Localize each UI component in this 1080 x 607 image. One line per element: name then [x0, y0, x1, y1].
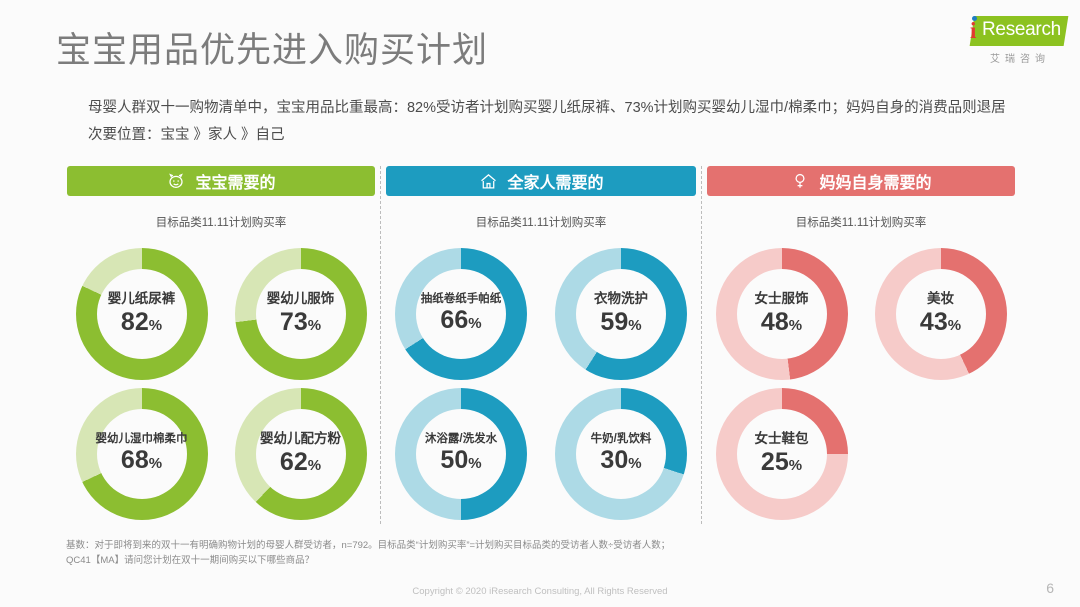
- donut-cell: 牛奶/乳饮料 30%: [541, 384, 701, 524]
- panel-baby: 宝宝需要的 目标品类11.11计划购买率 婴儿纸尿裤 82%: [62, 166, 380, 524]
- donut-hole: 女士鞋包 25%: [737, 409, 827, 499]
- donut-cell: 婴幼儿湿巾棉柔巾 68%: [62, 384, 221, 524]
- donut-hole: 牛奶/乳饮料 30%: [576, 409, 666, 499]
- donut-hole: 婴幼儿配方粉 62%: [256, 409, 346, 499]
- donut-value-unit: %: [149, 455, 162, 472]
- donut-value-unit: %: [789, 317, 802, 334]
- donut-value-unit: %: [468, 315, 481, 332]
- donut-value-number: 48: [761, 308, 789, 336]
- donut-value: 62%: [280, 448, 321, 477]
- donut-label: 牛奶/乳饮料: [591, 433, 652, 446]
- logo-chinese-name: 艾瑞咨询: [974, 50, 1066, 65]
- donut-value: 48%: [761, 308, 802, 337]
- panel-family: 全家人需要的 目标品类11.11计划购买率 抽纸卷纸手帕纸 66%: [380, 166, 702, 524]
- page-subtitle: 母婴人群双十一购物清单中，宝宝用品比重最高：82%受访者计划购买婴儿纸尿裤、73…: [88, 95, 1018, 149]
- donut-hole: 婴儿纸尿裤 82%: [97, 269, 187, 359]
- donut-cell: 美妆 43%: [861, 244, 1020, 384]
- panel-subtitle-baby: 目标品类11.11计划购买率: [156, 214, 287, 230]
- panel-subtitle-family: 目标品类11.11计划购买率: [476, 214, 607, 230]
- logo-mark: i Research: [962, 14, 1066, 48]
- panel-title-family: 全家人需要的: [507, 169, 603, 193]
- baby-face-icon: [166, 171, 186, 191]
- donut-hole: 衣物洗护 59%: [576, 269, 666, 359]
- footnote-line-2: QC41【MA】请问您计划在双十一期间购买以下哪些商品？: [66, 553, 966, 568]
- donut-hole: 婴幼儿服饰 73%: [256, 269, 346, 359]
- donut-value-unit: %: [628, 455, 641, 472]
- donut-value: 68%: [121, 446, 162, 475]
- donut-hole: 女士服饰 48%: [737, 269, 827, 359]
- donut-label: 婴儿纸尿裤: [108, 292, 176, 307]
- donut-cell: 衣物洗护 59%: [541, 244, 701, 384]
- donut-chart: 沐浴露/洗发水 50%: [395, 388, 527, 520]
- donut-grid-mom: 女士服饰 48% 美妆 43%: [702, 244, 1020, 524]
- panel-subtitle-mom: 目标品类11.11计划购买率: [796, 214, 927, 230]
- donut-value: 30%: [600, 446, 641, 475]
- donut-cell: 婴儿纸尿裤 82%: [62, 244, 221, 384]
- donut-value-unit: %: [628, 317, 641, 334]
- donut-hole: 美妆 43%: [896, 269, 986, 359]
- iresearch-logo: i Research 艾瑞咨询: [962, 14, 1066, 68]
- donut-value: 59%: [600, 308, 641, 337]
- donut-value: 73%: [280, 308, 321, 337]
- donut-label: 抽纸卷纸手帕纸: [421, 293, 502, 306]
- donut-value-number: 82: [121, 308, 149, 336]
- panel-title-baby: 宝宝需要的: [195, 169, 275, 193]
- logo-i-dot-icon: [972, 16, 977, 21]
- donut-cell: 女士服饰 48%: [702, 244, 861, 384]
- donut-cell-empty: [861, 384, 1020, 524]
- donut-cell: 沐浴露/洗发水 50%: [381, 384, 541, 524]
- donut-chart: 美妆 43%: [875, 248, 1007, 380]
- donut-value-number: 59: [600, 308, 628, 336]
- donut-label: 女士鞋包: [755, 432, 809, 447]
- donut-chart: 婴儿纸尿裤 82%: [76, 248, 208, 380]
- donut-label: 沐浴露/洗发水: [425, 433, 497, 446]
- panel-header-baby: 宝宝需要的: [67, 166, 375, 196]
- panel-title-mom: 妈妈自身需要的: [819, 169, 931, 193]
- donut-label: 婴幼儿配方粉: [260, 432, 341, 447]
- donut-label: 婴幼儿服饰: [267, 292, 335, 307]
- panel-header-mom: 妈妈自身需要的: [707, 166, 1015, 196]
- donut-value-number: 30: [600, 446, 628, 474]
- donut-value-unit: %: [789, 457, 802, 474]
- venus-icon: [790, 171, 810, 191]
- donut-chart: 婴幼儿服饰 73%: [235, 248, 367, 380]
- donut-hole: 抽纸卷纸手帕纸 66%: [416, 269, 506, 359]
- donut-value-number: 68: [121, 446, 149, 474]
- donut-value: 43%: [920, 308, 961, 337]
- donut-value: 82%: [121, 308, 162, 337]
- donut-value-number: 25: [761, 448, 789, 476]
- donut-label: 婴幼儿湿巾棉柔巾: [96, 433, 188, 446]
- donut-chart: 婴幼儿湿巾棉柔巾 68%: [76, 388, 208, 520]
- panels-container: 宝宝需要的 目标品类11.11计划购买率 婴儿纸尿裤 82%: [62, 166, 1020, 524]
- house-icon: [478, 171, 498, 191]
- donut-cell: 婴幼儿配方粉 62%: [221, 384, 380, 524]
- donut-chart: 牛奶/乳饮料 30%: [555, 388, 687, 520]
- donut-value-number: 43: [920, 308, 948, 336]
- donut-value-unit: %: [468, 455, 481, 472]
- donut-chart: 女士服饰 48%: [716, 248, 848, 380]
- panel-header-family: 全家人需要的: [386, 166, 696, 196]
- donut-chart: 抽纸卷纸手帕纸 66%: [395, 248, 527, 380]
- donut-value-number: 62: [280, 448, 308, 476]
- donut-chart: 女士鞋包 25%: [716, 388, 848, 520]
- donut-value: 66%: [440, 306, 481, 335]
- donut-grid-baby: 婴儿纸尿裤 82% 婴幼儿服饰 73%: [62, 244, 380, 524]
- donut-value-unit: %: [308, 317, 321, 334]
- donut-value-number: 66: [440, 306, 468, 334]
- footnote-line-1: 基数：对于即将到来的双十一有明确购物计划的母婴人群受访者，n=792。目标品类“…: [66, 538, 966, 553]
- page-title: 宝宝用品优先进入购买计划: [56, 22, 488, 73]
- donut-chart: 婴幼儿配方粉 62%: [235, 388, 367, 520]
- donut-grid-family: 抽纸卷纸手帕纸 66% 衣物洗护 59%: [381, 244, 701, 524]
- slide-canvas: i Research 艾瑞咨询 宝宝用品优先进入购买计划 母婴人群双十一购物清单…: [0, 0, 1080, 607]
- donut-label: 女士服饰: [755, 292, 809, 307]
- logo-letter-i: i: [970, 19, 976, 42]
- donut-value-number: 50: [440, 446, 468, 474]
- panel-mom: 妈妈自身需要的 目标品类11.11计划购买率 女士服饰 48%: [702, 166, 1020, 524]
- donut-hole: 婴幼儿湿巾棉柔巾 68%: [97, 409, 187, 499]
- donut-label: 美妆: [927, 292, 954, 307]
- page-number: 6: [1046, 580, 1054, 596]
- donut-value-unit: %: [948, 317, 961, 334]
- donut-value: 25%: [761, 448, 802, 477]
- copyright-text: Copyright © 2020 iResearch Consulting, A…: [0, 586, 1080, 597]
- donut-chart: 衣物洗护 59%: [555, 248, 687, 380]
- donut-value-unit: %: [149, 317, 162, 334]
- donut-label: 衣物洗护: [594, 292, 648, 307]
- donut-cell: 婴幼儿服饰 73%: [221, 244, 380, 384]
- donut-value: 50%: [440, 446, 481, 475]
- footnote: 基数：对于即将到来的双十一有明确购物计划的母婴人群受访者，n=792。目标品类“…: [66, 538, 966, 568]
- donut-cell: 女士鞋包 25%: [702, 384, 861, 524]
- donut-cell: 抽纸卷纸手帕纸 66%: [381, 244, 541, 384]
- donut-value-number: 73: [280, 308, 308, 336]
- donut-value-unit: %: [308, 457, 321, 474]
- donut-hole: 沐浴露/洗发水 50%: [416, 409, 506, 499]
- logo-wordmark: Research: [982, 19, 1061, 41]
